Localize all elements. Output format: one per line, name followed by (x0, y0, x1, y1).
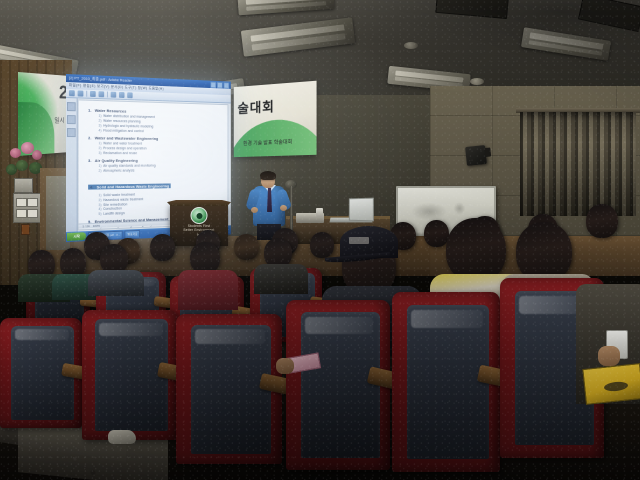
presenter-hand-right (280, 205, 287, 211)
thumbnails-icon[interactable] (67, 115, 76, 124)
paper-cup (316, 208, 323, 217)
auditorium-seat[interactable] (286, 300, 390, 470)
baseball-cap (340, 226, 398, 258)
bookmarks-icon[interactable] (67, 102, 76, 111)
navigation-pane[interactable] (66, 98, 78, 232)
attachments-icon[interactable] (67, 128, 76, 137)
section-item: 4)Flood mitigation and control (99, 128, 223, 134)
zoom-in-icon[interactable] (99, 91, 105, 97)
zoom-indicator: 100% (93, 224, 100, 228)
start-button[interactable]: 시작 (67, 232, 86, 241)
wall-panel-upper (14, 178, 33, 193)
auditorium-seat[interactable] (176, 314, 282, 464)
banner-right-title: 술대회 (238, 96, 275, 117)
auditorium-seat[interactable] (0, 318, 82, 428)
outline-section: 2.Water and Wastewater Engineering 1)Wat… (88, 135, 223, 155)
outline-section: 1.Water Resources 1)Water distribution a… (88, 108, 223, 134)
hand (276, 358, 294, 374)
section-item: 2)Atmospheric analysis (99, 168, 223, 173)
zoom-out-icon[interactable] (90, 91, 96, 97)
university-crest-icon (191, 207, 208, 224)
outline-section: 3.Air Quality Engineering 1)Air quality … (88, 158, 223, 173)
auditorium-scene: 2 일시 술대회 환경 기술 발표 학술대회 [2] PT_2010_최종.pd… (0, 0, 640, 480)
print-icon[interactable] (78, 90, 84, 96)
section-heading-selected: 4.Solid and Hazardous Waste Engineering (88, 183, 171, 189)
light-switch-panel[interactable] (13, 193, 41, 223)
select-tool-icon[interactable] (111, 92, 117, 98)
indicator-led (21, 224, 30, 235)
presenter-hair (260, 171, 276, 180)
wall-speaker-icon (465, 145, 487, 166)
page-nav-icon[interactable] (127, 92, 132, 98)
laptop-screen (349, 198, 374, 222)
window-curtain (520, 112, 636, 216)
section-item: 3)Reclamation and reuse (99, 151, 223, 155)
presenter-hand-left (251, 207, 258, 213)
shoe (108, 430, 136, 444)
page-indicator: 1 / 24 (82, 224, 89, 228)
banner-left-label: 일시 (54, 116, 64, 125)
open-file-icon[interactable] (69, 90, 75, 96)
search-icon[interactable] (119, 92, 124, 98)
section-heading: 3.Air Quality Engineering (88, 158, 223, 163)
auditorium-seat[interactable] (82, 310, 178, 440)
banner-right: 술대회 환경 기술 발표 학술대회 (234, 81, 317, 157)
hand (598, 346, 620, 366)
auditorium-seat[interactable] (392, 292, 500, 472)
